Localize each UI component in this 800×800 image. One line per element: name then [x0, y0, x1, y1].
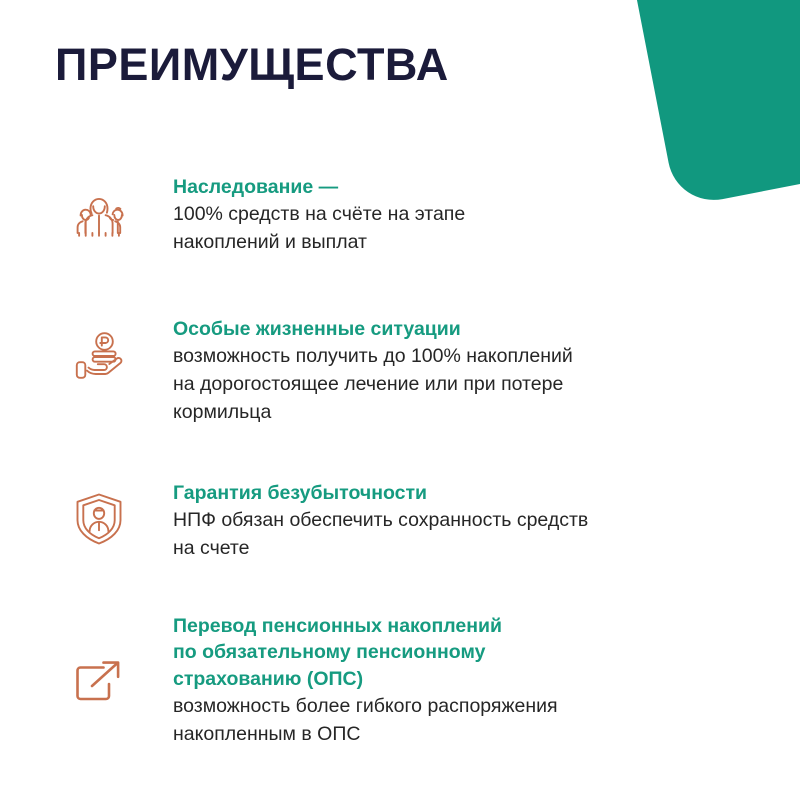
transfer-out-arrow-icon — [68, 653, 130, 715]
slide-root: ПРЕИМУЩЕСТВА — [0, 0, 800, 800]
benefit-text-block: Гарантия безубыточности НПФ обязан обесп… — [173, 478, 588, 562]
benefit-item-inheritance: Наследование — 100% средств на счёте на … — [0, 172, 800, 256]
benefit-heading: Особые жизненные ситуации — [173, 316, 573, 343]
benefit-heading: Перевод пенсионных накоплений по обязате… — [173, 613, 558, 694]
benefit-body: 100% средств на счёте на этапе накоплени… — [173, 201, 465, 256]
benefit-text-block: Особые жизненные ситуации возможность по… — [173, 314, 573, 426]
benefit-body: НПФ обязан обеспечить сохранность средст… — [173, 507, 588, 562]
hand-with-ruble-coins-icon — [68, 326, 130, 388]
benefit-text-block: Наследование — 100% средств на счёте на … — [173, 172, 465, 256]
benefit-body: возможность более гибкого распоряжения н… — [173, 693, 558, 748]
benefit-body: возможность получить до 100% накоплений … — [173, 343, 573, 426]
family-group-icon — [68, 186, 130, 248]
benefit-heading: Наследование — — [173, 174, 465, 201]
shield-with-person-icon — [68, 488, 130, 550]
benefits-list: Наследование — 100% средств на счёте на … — [0, 160, 800, 749]
benefit-item-ops-transfer: Перевод пенсионных накоплений по обязате… — [0, 611, 800, 749]
benefit-text-block: Перевод пенсионных накоплений по обязате… — [173, 611, 558, 749]
page-title: ПРЕИМУЩЕСТВА — [55, 40, 449, 90]
benefit-item-guarantee: Гарантия безубыточности НПФ обязан обесп… — [0, 478, 800, 562]
benefit-item-life-situations: Особые жизненные ситуации возможность по… — [0, 314, 800, 426]
benefit-heading: Гарантия безубыточности — [173, 480, 588, 507]
